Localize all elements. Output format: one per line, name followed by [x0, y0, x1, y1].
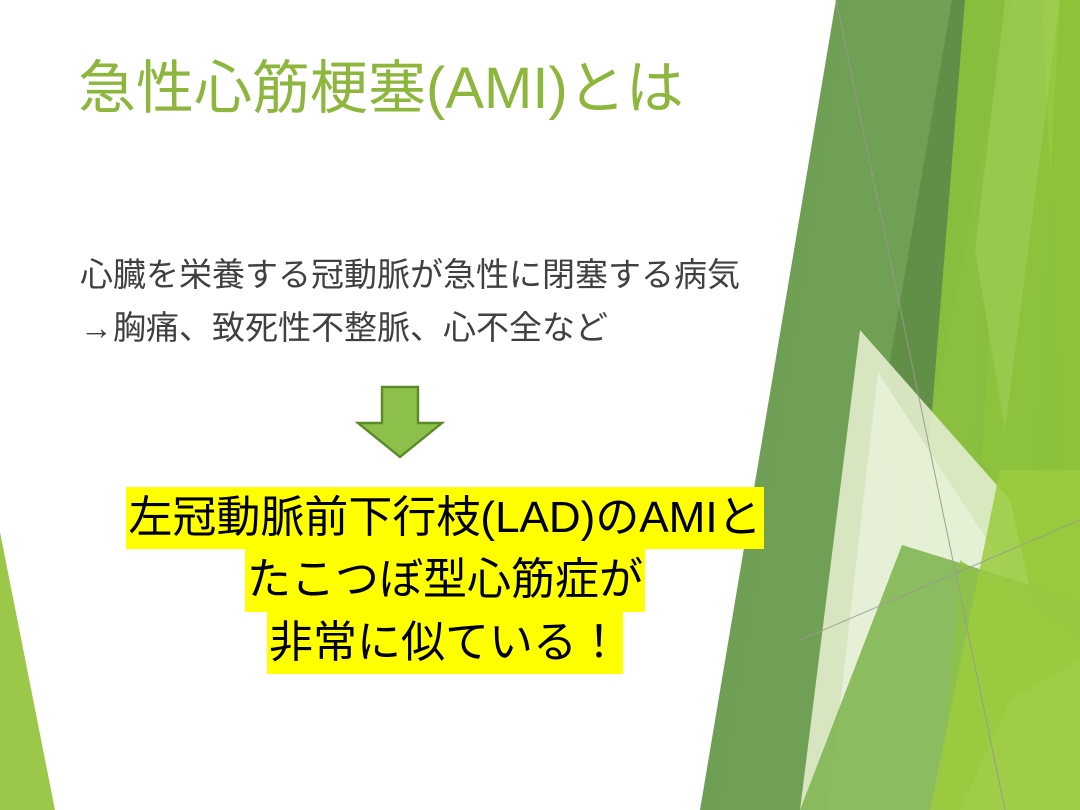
conclusion-line-3: 非常に似ている！ — [267, 612, 623, 674]
body-paragraph: 心臓を栄養する冠動脈が急性に閉塞する病気 →胸痛、致死性不整脈、心不全など — [80, 248, 820, 355]
body-line-1: 心臓を栄養する冠動脈が急性に閉塞する病気 — [80, 248, 820, 301]
conclusion-line-1: 左冠動脈前下行枝(LAD)のAMIと — [126, 487, 763, 549]
conclusion-line-3-row: 非常に似ている！ — [0, 612, 890, 674]
slide-canvas: 急性心筋梗塞(AMI)とは 心臓を栄養する冠動脈が急性に閉塞する病気 →胸痛、致… — [0, 0, 1080, 810]
conclusion-highlight-block: 左冠動脈前下行枝(LAD)のAMIと たこつぼ型心筋症が 非常に似ている！ — [0, 487, 890, 674]
body-line-2: →胸痛、致死性不整脈、心不全など — [80, 301, 820, 354]
page-title: 急性心筋梗塞(AMI)とは — [78, 56, 798, 123]
conclusion-line-1-row: 左冠動脈前下行枝(LAD)のAMIと — [0, 487, 890, 549]
conclusion-line-2-row: たこつぼ型心筋症が — [0, 549, 890, 611]
conclusion-line-2: たこつぼ型心筋症が — [245, 549, 645, 611]
down-arrow-icon — [352, 383, 448, 461]
